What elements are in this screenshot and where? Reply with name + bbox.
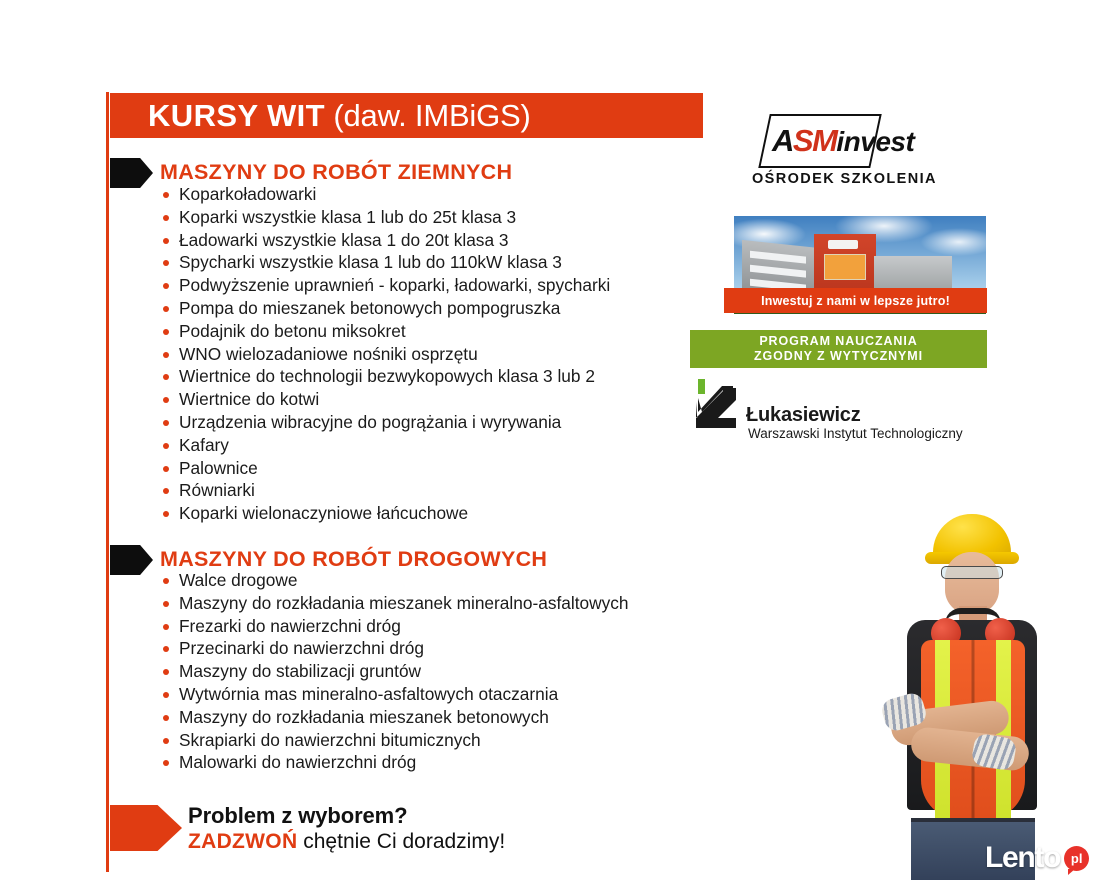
facade-logo-icon xyxy=(828,240,858,249)
lento-pl-badge-icon: pl xyxy=(1064,846,1089,871)
cta-call-word: ZADZWOŃ xyxy=(188,830,297,853)
list-item: Pompa do mieszanek betonowych pompogrusz… xyxy=(160,297,610,320)
list-item: Ładowarki wszystkie klasa 1 do 20t klasa… xyxy=(160,229,610,252)
lukasiewicz-logo: Łukasiewicz Warszawski Instytut Technolo… xyxy=(692,378,992,450)
cta-question: Problem z wyborem? xyxy=(188,803,505,829)
asm-letter-s: S xyxy=(793,123,812,158)
left-red-rule xyxy=(106,92,109,872)
list-item: Maszyny do rozkładania mieszanek betonow… xyxy=(160,706,629,729)
lukasiewicz-mark-icon xyxy=(692,378,752,436)
page-title-strong: KURSY WIT xyxy=(148,98,325,133)
program-banner-line1: PROGRAM NAUCZANIA xyxy=(759,334,917,349)
list-item: Kafary xyxy=(160,434,610,457)
facade-sign xyxy=(824,254,866,280)
list-item: Maszyny do stabilizacji gruntów xyxy=(160,660,629,683)
list-item: Podwyższenie uprawnień - koparki, ładowa… xyxy=(160,274,610,297)
list-item: Urządzenia wibracyjne do pogrążania i wy… xyxy=(160,411,610,434)
asm-logo-subtitle: OŚRODEK SZKOLENIA xyxy=(752,171,937,187)
list-item: Malowarki do nawierzchni dróg xyxy=(160,751,629,774)
list-item: Koparki wielonaczyniowe łańcuchowe xyxy=(160,502,610,525)
cta-invite: ZADZWOŃ chętnie Ci doradzimy! xyxy=(188,829,505,855)
list-item: Walce drogowe xyxy=(160,569,629,592)
section-marker-icon-2 xyxy=(110,545,153,575)
list-item: Koparkoładowarki xyxy=(160,183,610,206)
lukasiewicz-institute: Warszawski Instytut Technologiczny xyxy=(748,426,963,441)
worker-face xyxy=(945,552,999,614)
photo-slogan-text: Inwestuj z nami w lepsze jutro! xyxy=(761,294,950,308)
program-banner-line2: ZGODNY Z WYTYCZNYMI xyxy=(754,349,923,364)
list-item: Podajnik do betonu miksokret xyxy=(160,320,610,343)
section-marker-icon-1 xyxy=(110,158,153,188)
list-item: Wytwórnia mas mineralno-asfaltowych otac… xyxy=(160,683,629,706)
program-compliance-banner: PROGRAM NAUCZANIA ZGODNY Z WYTYCZNYMI xyxy=(690,330,987,368)
window-strip xyxy=(750,265,806,278)
asm-letter-m: M xyxy=(812,123,836,158)
header-bar: KURSY WIT (daw. IMBiGS) xyxy=(110,93,703,138)
list-item: Wiertnice do kotwi xyxy=(160,388,610,411)
safety-glasses-icon xyxy=(941,566,1003,579)
asm-invest-logo: ASMinvest OŚRODEK SZKOLENIA xyxy=(752,114,952,192)
list-item: Wiertnice do technologii bezwykopowych k… xyxy=(160,365,610,388)
list-item: Skrapiarki do nawierzchni bitumicznych xyxy=(160,729,629,752)
lento-wordmark: Lento xyxy=(985,843,1060,873)
window-strip xyxy=(750,251,806,264)
asm-suffix: invest xyxy=(836,126,914,157)
list-item: Maszyny do rozkładania mieszanek mineral… xyxy=(160,592,629,615)
list-item: WNO wielozadaniowe nośniki osprzętu xyxy=(160,343,610,366)
list-item: Koparki wszystkie klasa 1 lub do 25t kla… xyxy=(160,206,610,229)
lento-watermark: Lento pl xyxy=(985,843,1089,873)
asm-logo-wordmark: ASMinvest xyxy=(772,122,914,161)
list-roadworks: Walce drogowe Maszyny do rozkładania mie… xyxy=(160,569,629,774)
list-item: Spycharki wszystkie klasa 1 lub do 110kW… xyxy=(160,251,610,274)
list-item: Palownice xyxy=(160,457,610,480)
poster-root: KURSY WIT (daw. IMBiGS) MASZYNY DO ROBÓT… xyxy=(0,0,1095,880)
list-item: Frezarki do nawierzchni dróg xyxy=(160,615,629,638)
cta-arrow-icon xyxy=(110,805,182,851)
construction-worker-photo xyxy=(845,500,1095,880)
asm-letter-a: A xyxy=(772,123,793,158)
list-item: Równiarki xyxy=(160,479,610,502)
page-title: KURSY WIT (daw. IMBiGS) xyxy=(110,98,531,134)
photo-slogan-banner: Inwestuj z nami w lepsze jutro! xyxy=(724,288,987,313)
list-earthworks: Koparkoładowarki Koparki wszystkie klasa… xyxy=(160,183,610,525)
list-item: Przecinarki do nawierzchni dróg xyxy=(160,637,629,660)
lukasiewicz-name: Łukasiewicz xyxy=(746,404,861,427)
cta-invite-rest: chętnie Ci doradzimy! xyxy=(297,830,505,853)
cta-block: Problem z wyborem? ZADZWOŃ chętnie Ci do… xyxy=(188,803,505,855)
section-heading-earthworks: MASZYNY DO ROBÓT ZIEMNYCH xyxy=(160,160,512,185)
lento-badge-text: pl xyxy=(1071,852,1083,865)
page-title-rest: (daw. IMBiGS) xyxy=(325,98,531,133)
